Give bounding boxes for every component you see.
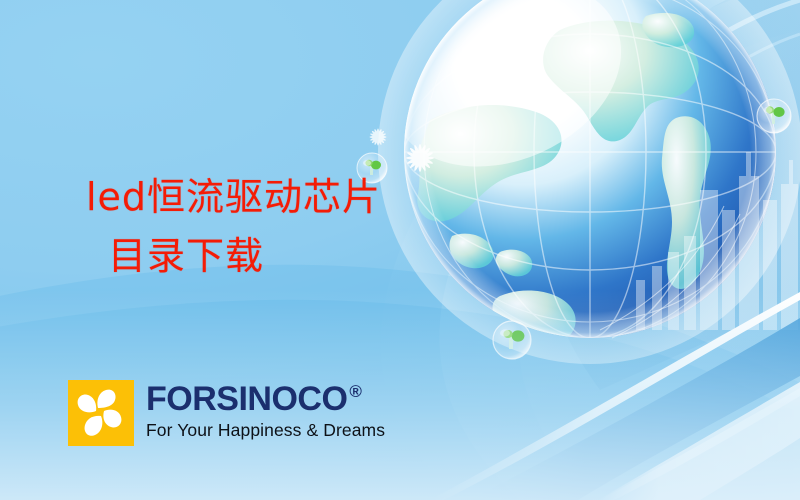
brand-tagline: For Your Happiness & Dreams [146, 422, 385, 440]
headline-line-2: 目录下载 [86, 227, 381, 286]
promo-banner: led恒流驱动芯片 目录下载 FORSINOCO ® [0, 0, 800, 500]
headline-line-1: led恒流驱动芯片 [86, 175, 381, 219]
brand-logo: FORSINOCO ® For Your Happiness & Dreams [68, 380, 385, 446]
logo-text-block: FORSINOCO ® For Your Happiness & Dreams [146, 380, 385, 440]
forsinoco-pinwheel-mark [68, 380, 134, 446]
headline: led恒流驱动芯片 目录下载 [86, 168, 381, 286]
registered-trademark-icon: ® [349, 383, 361, 400]
brand-wordmark: FORSINOCO ® [146, 382, 385, 416]
brand-name: FORSINOCO [146, 382, 347, 416]
pinwheel-icon [68, 380, 134, 446]
